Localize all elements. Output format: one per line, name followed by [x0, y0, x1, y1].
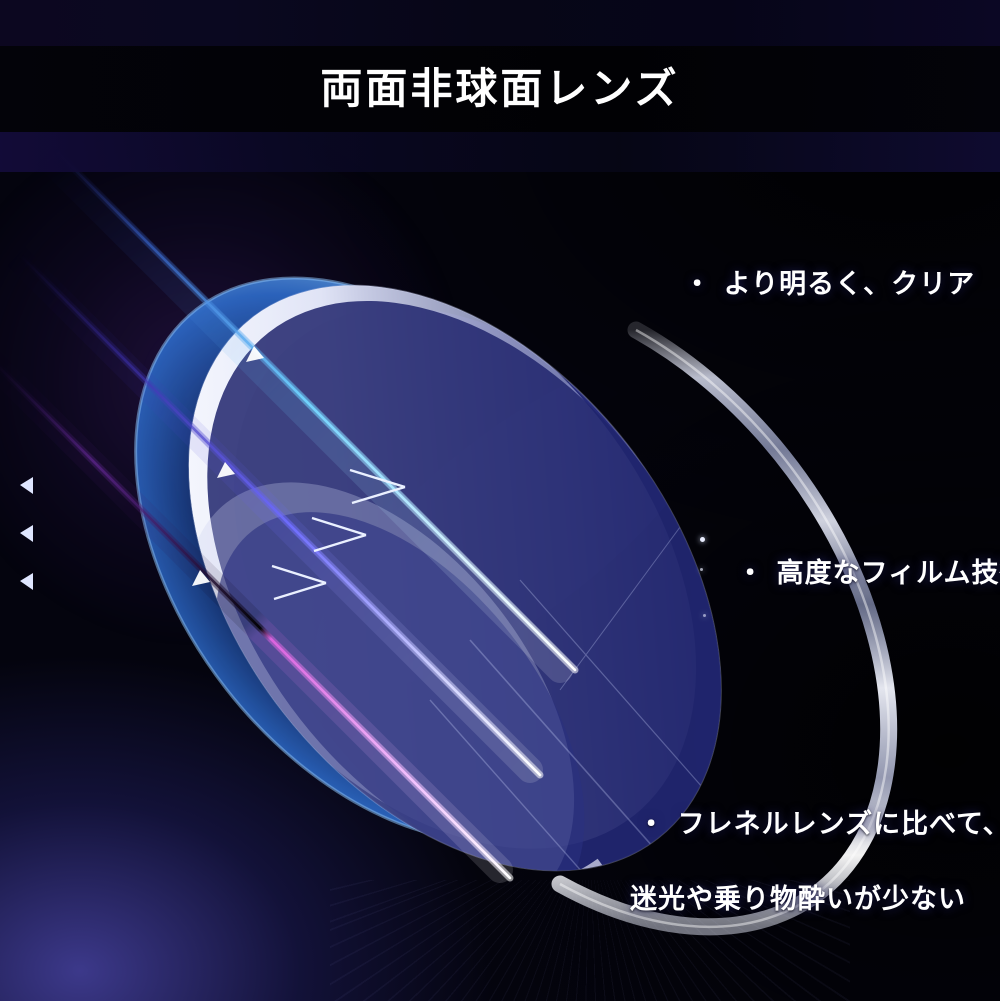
bullet-marker-1: ・ [684, 266, 712, 303]
bullet-text-2: 高度なフィルム技術 [777, 558, 1000, 589]
bullet-text-1: より明るく、クリア [724, 269, 975, 300]
bullet-text-3-line1: フレネルレンズに比べて、 [678, 809, 1000, 840]
feature-bullet-2: ・高度なフィルム技術 [695, 518, 1000, 630]
top-strip [0, 0, 1000, 46]
product-infographic: 両面非球面レンズ ・より明るく、クリア ・高度なフィルム技術 ・フレネルレンズに… [0, 0, 1000, 1001]
feature-bullet-1: ・より明るく、クリア [642, 229, 975, 341]
feature-bullet-3: ・フレネルレンズに比べて、 迷光や乗り物酔いが少ない [596, 769, 1000, 993]
below-title-glow [0, 130, 1000, 172]
page-title: 両面非球面レンズ [320, 68, 679, 110]
bullet-marker-2: ・ [737, 555, 765, 592]
background-purple-haze [0, 120, 460, 640]
bullet-marker-3: ・ [638, 806, 666, 843]
bullet-text-3-line2: 迷光や乗り物酔いが少ない [630, 881, 1000, 918]
title-band: 両面非球面レンズ [0, 46, 1000, 132]
